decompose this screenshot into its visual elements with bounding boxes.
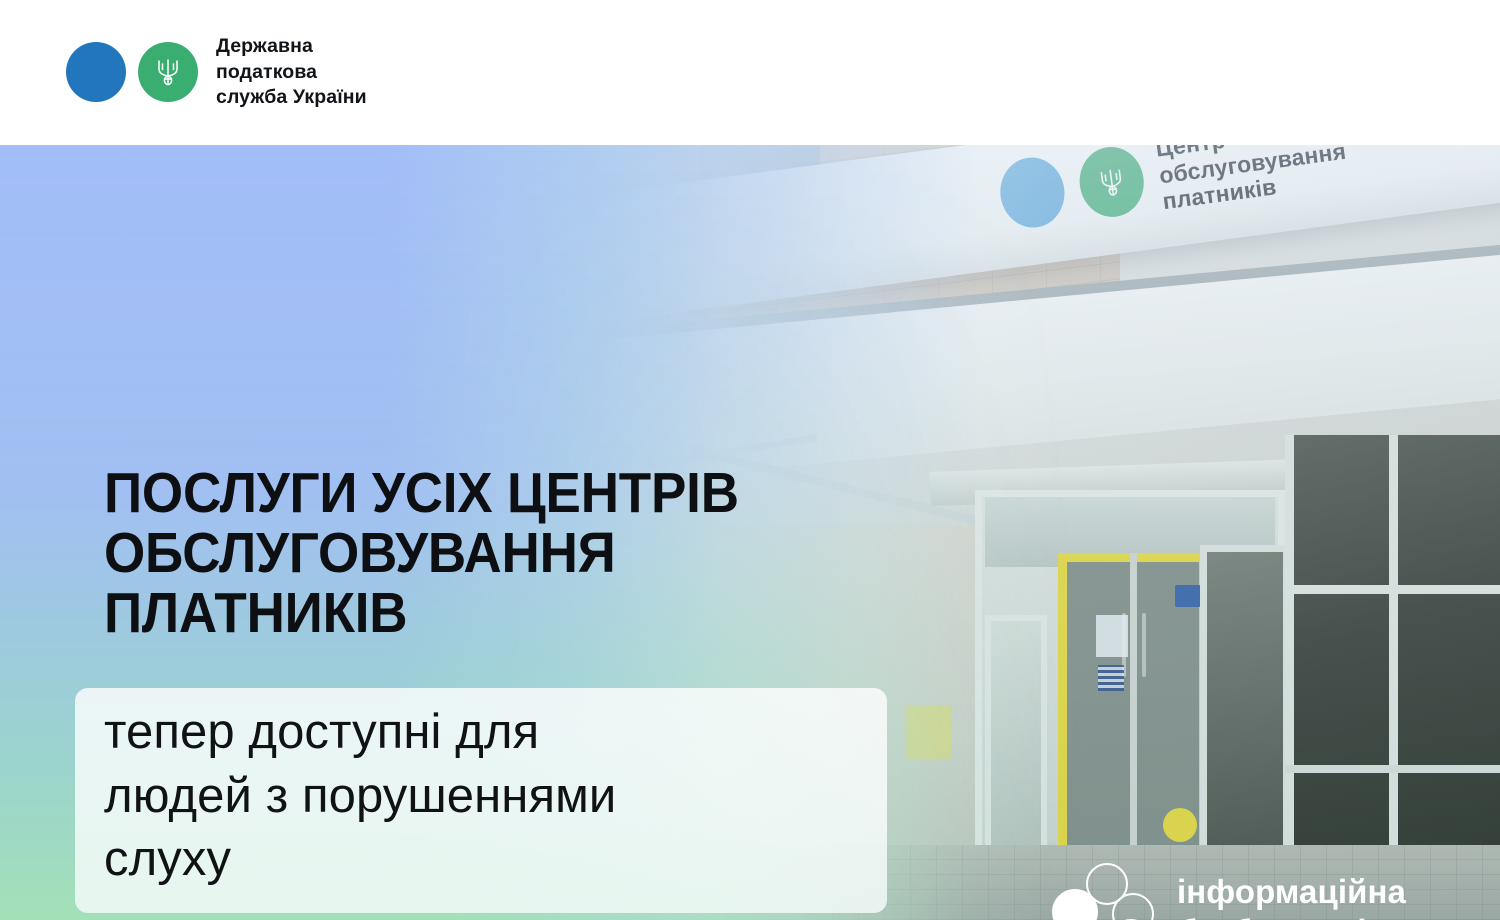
poster: Державна податкова служба України — [0, 0, 1500, 920]
dps-logo — [66, 42, 198, 102]
org-name: Державна податкова служба України — [216, 34, 367, 111]
barrier-free-dots-icon — [1050, 863, 1155, 920]
subtitle-text: тепер доступні для людей з порушеннями с… — [104, 701, 894, 892]
hero-stage: Центр обслуговування платників — [0, 145, 1500, 920]
barrier-free-lockup: інформаційна безбар'єрність — [1050, 863, 1422, 920]
header-bar: Державна податкова служба України — [0, 0, 1500, 145]
dps-blue-circle — [66, 42, 126, 102]
dps-green-circle-trident — [138, 42, 198, 102]
barrier-free-label: інформаційна безбар'єрність — [1177, 872, 1422, 920]
brand-lockup: Державна податкова служба України — [66, 34, 367, 111]
trident-icon — [155, 57, 181, 87]
page-title: ПОСЛУГИ УСІХ ЦЕНТРІВ ОБСЛУГОВУВАННЯ ПЛАТ… — [104, 463, 876, 643]
